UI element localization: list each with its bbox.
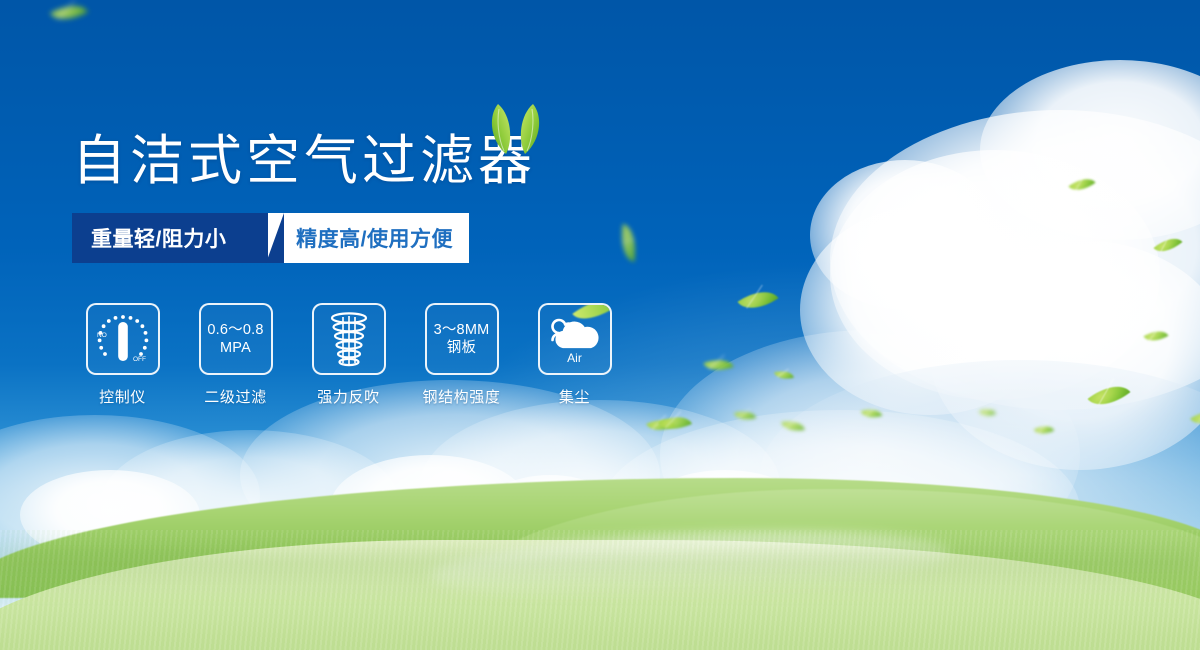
cloud-air-icon: [548, 316, 602, 350]
feature-item-filter[interactable]: 0.6〜0.8 MPA 二级过滤: [185, 303, 286, 407]
gauge-no-label: NO: [97, 332, 107, 339]
feature-label: 控制仪: [99, 386, 146, 407]
feature-label: 集尘: [559, 386, 590, 407]
banner-content: 自洁式空气过滤器: [72, 132, 625, 407]
coil-spring-icon: [325, 311, 373, 367]
steel-plate-icon: 3〜8MM: [434, 321, 490, 339]
pressure-unit-label: MPA: [220, 339, 251, 357]
feature-item-steel[interactable]: 3〜8MM 钢板 钢结构强度: [411, 303, 512, 407]
sprout-leaves-icon: [480, 102, 550, 154]
feature-item-dust[interactable]: Air 集尘: [524, 303, 625, 407]
steel-plate-label: 钢板: [447, 339, 476, 357]
feature-label: 钢结构强度: [422, 386, 500, 407]
feature-icon-box: Air: [538, 303, 612, 375]
gauge-off-label: OFF: [133, 356, 146, 363]
air-label: Air: [567, 351, 582, 365]
tagline-left: 重量轻/阻力小: [72, 213, 268, 263]
tagline-right: 精度高/使用方便: [268, 213, 469, 263]
feature-label: 强力反吹: [317, 386, 379, 407]
feature-label: 二级过滤: [204, 386, 266, 407]
feature-list: NO OFF 控制仪 0.6〜0.8 MPA 二级过滤: [72, 303, 625, 407]
feature-item-blowback[interactable]: 强力反吹: [298, 303, 399, 407]
feature-icon-box: 3〜8MM 钢板: [425, 303, 499, 375]
feature-icon-box: [312, 303, 386, 375]
feature-icon-box: 0.6〜0.8 MPA: [199, 303, 273, 375]
gauge-dial-icon: NO OFF: [94, 311, 152, 367]
tagline-badge: 重量轻/阻力小 精度高/使用方便: [72, 213, 469, 263]
pressure-value-icon: 0.6〜0.8: [207, 321, 263, 339]
hero-banner: 自洁式空气过滤器: [0, 0, 1200, 650]
feature-icon-box: NO OFF: [86, 303, 160, 375]
feature-item-control[interactable]: NO OFF 控制仪: [72, 303, 173, 407]
